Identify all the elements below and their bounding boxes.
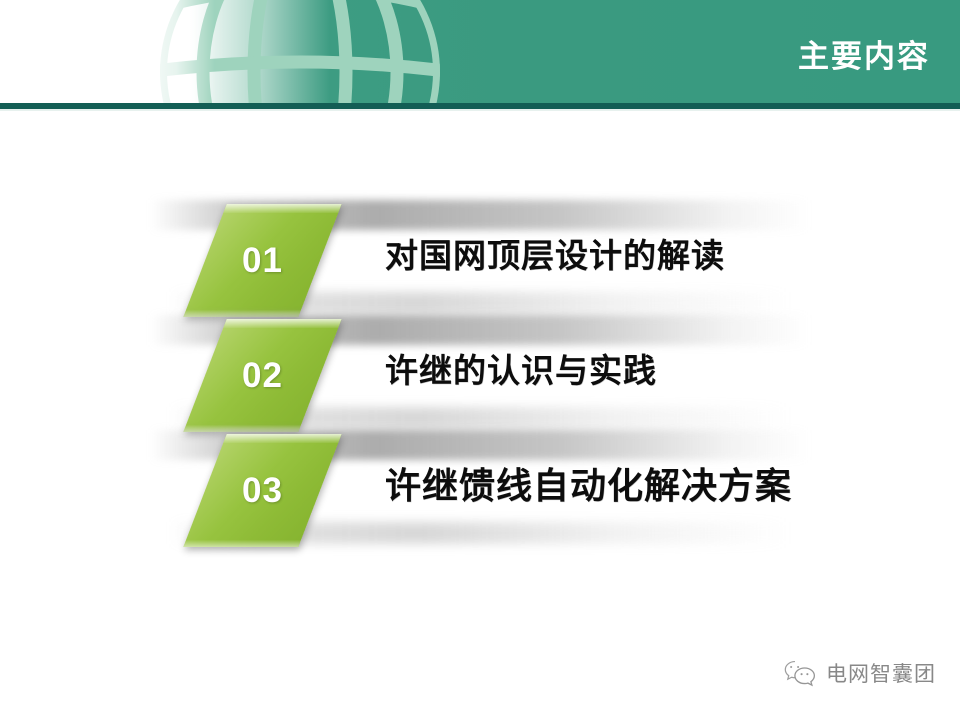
wechat-account-name: 电网智囊团 [826,658,936,688]
slide-root: 主要内容 01 对国网顶层设计的解读 02 许继的认识与实践 03 [0,0,960,720]
wechat-icon [783,659,817,687]
header-divider-soft [0,109,960,111]
agenda-label: 对国网顶层设计的解读 [385,196,725,309]
agenda-label: 许继的认识与实践 [385,311,657,424]
agenda-number: 03 [205,434,320,547]
slide-header: 主要内容 [0,0,960,103]
page-title: 主要内容 [798,41,930,72]
agenda-item-01[interactable]: 01 对国网顶层设计的解读 [0,196,960,311]
agenda-list: 01 对国网顶层设计的解读 02 许继的认识与实践 03 许继馈线自动化解决方案 [0,196,960,541]
agenda-label: 许继馈线自动化解决方案 [385,426,792,539]
agenda-item-02[interactable]: 02 许继的认识与实践 [0,311,960,426]
wechat-watermark: 电网智囊团 [783,658,936,688]
agenda-number: 02 [205,319,320,432]
globe-wireframe-icon [150,0,450,103]
agenda-number: 01 [205,204,320,317]
agenda-item-03[interactable]: 03 许继馈线自动化解决方案 [0,426,960,541]
